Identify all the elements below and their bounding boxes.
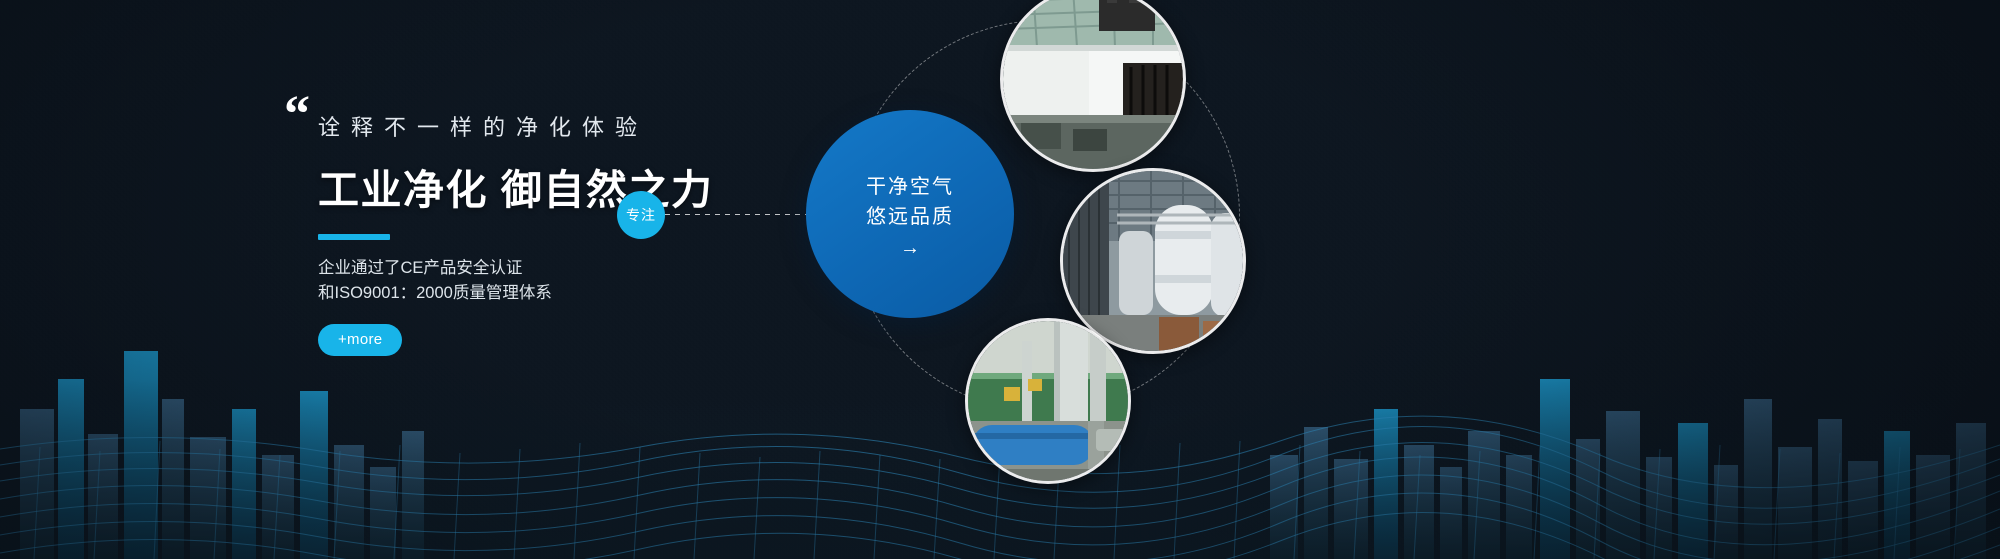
arrow-right-icon: → xyxy=(900,240,920,256)
more-button[interactable]: +more xyxy=(318,324,402,356)
hero-subtitle: 诠释不一样的净化体验 xyxy=(318,92,916,142)
hero-banner: “ 诠释不一样的净化体验 工业净化 御自然之力 企业通过了CE产品安全认证 和I… xyxy=(0,0,2000,559)
photo-pipeline-equipment-bottom[interactable] xyxy=(965,318,1131,484)
main-blue-circle[interactable]: 干净空气 悠远品质 → xyxy=(806,110,1014,318)
main-circle-line-1: 干净空气 xyxy=(866,172,954,202)
description-line-2: 和ISO9001：2000质量管理体系 xyxy=(318,281,916,306)
main-circle-line-2: 悠远品质 xyxy=(866,202,954,232)
title-underline-bar xyxy=(318,234,390,240)
photo-factory-tanks-right[interactable] xyxy=(1060,168,1246,354)
focus-badge[interactable]: 专注 xyxy=(617,191,665,239)
photo-pipeline-equipment-bottom-image xyxy=(968,321,1128,481)
photo-factory-tanks-right-image xyxy=(1063,171,1243,351)
quote-mark-icon: “ xyxy=(284,98,308,132)
photo-factory-interior-top-image xyxy=(1003,0,1183,169)
dashed-connector-line xyxy=(665,214,810,215)
